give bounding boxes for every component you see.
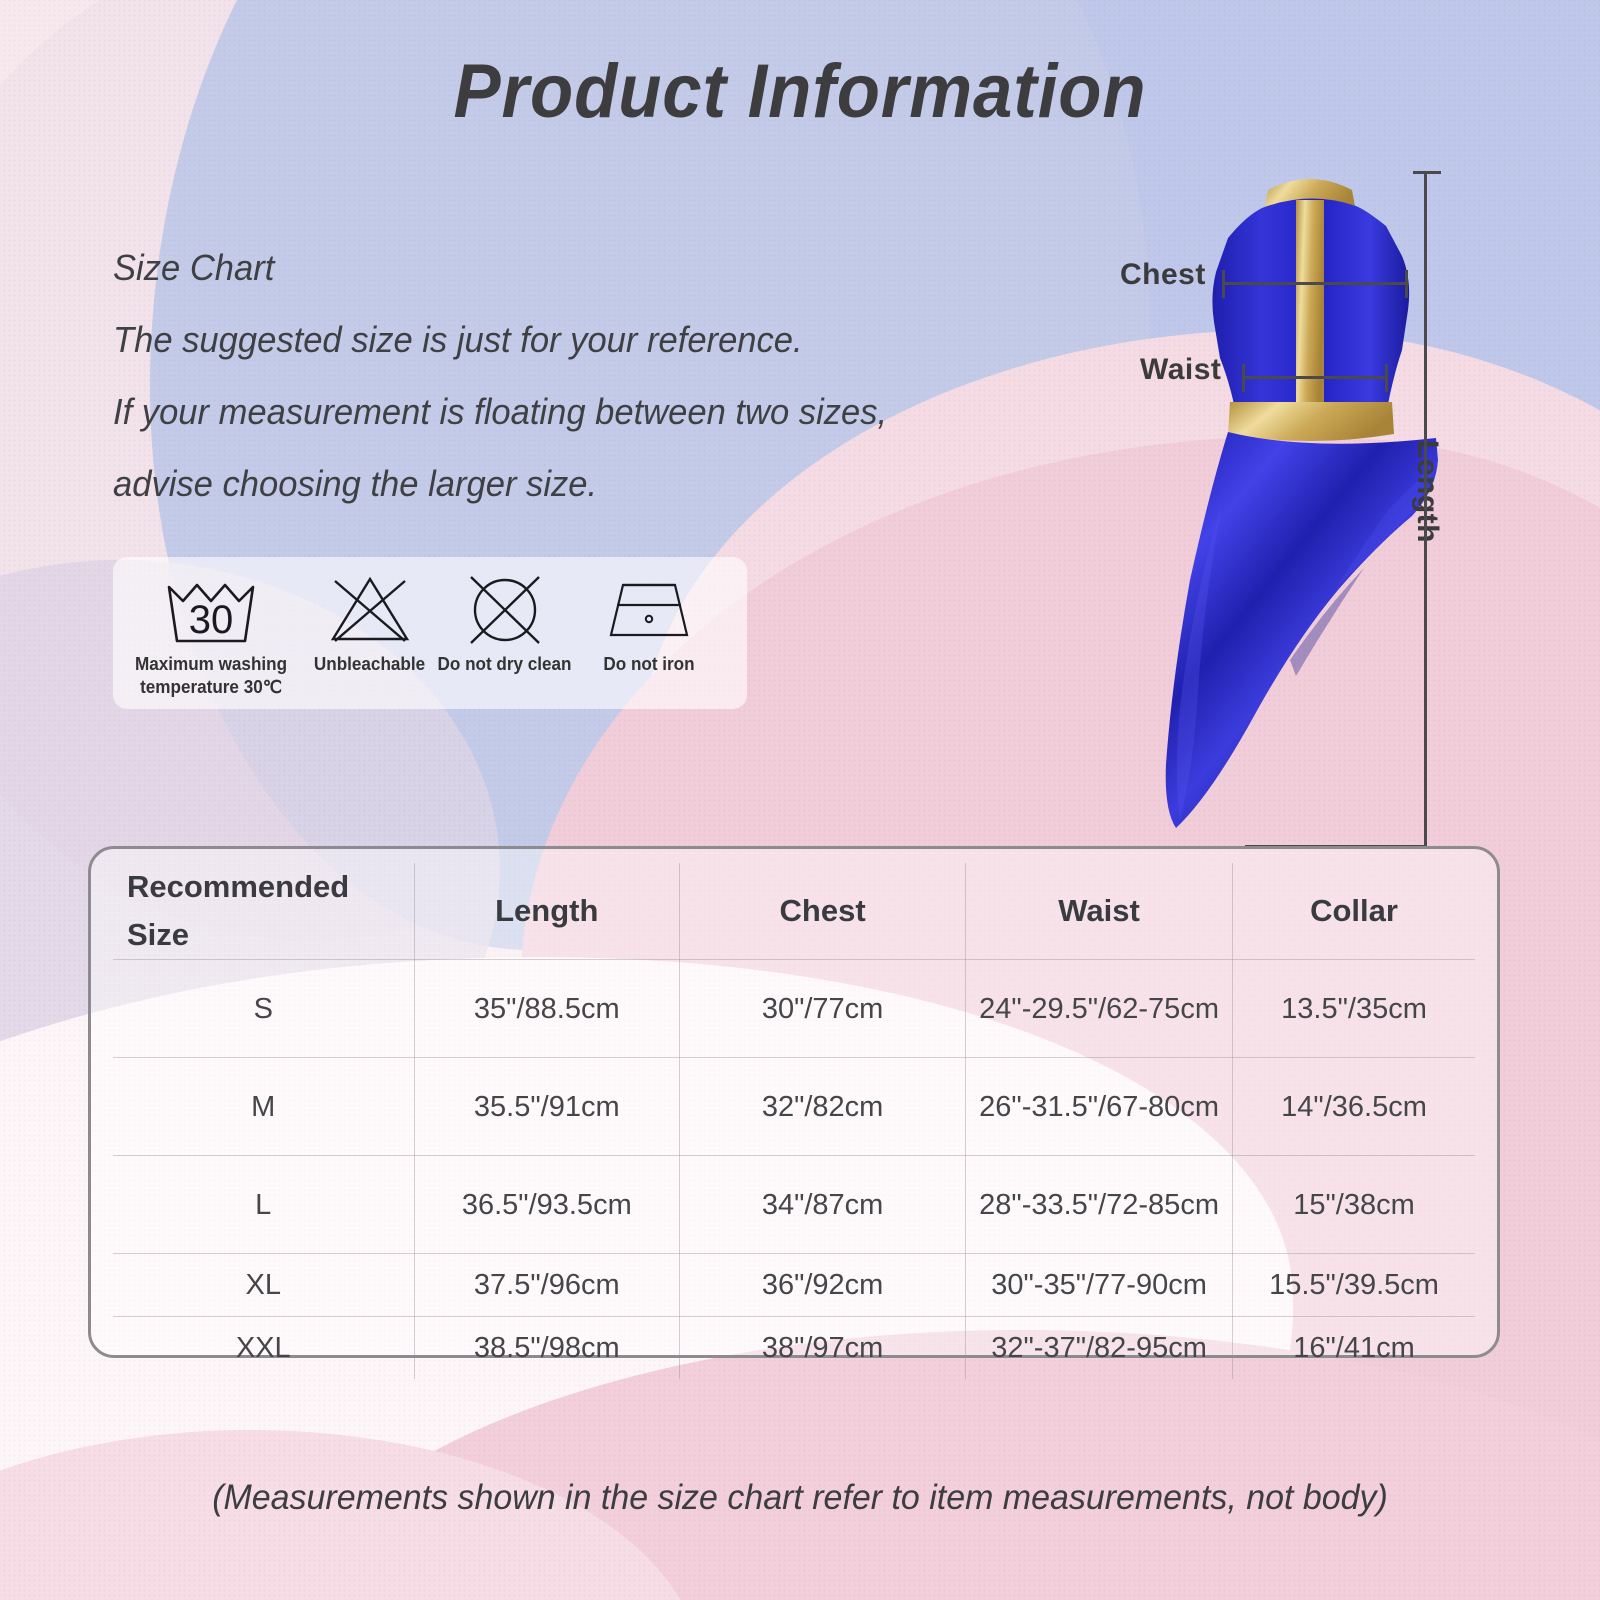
cell-length: 38.5"/98cm [414,1317,680,1380]
chest-measure-line [1222,282,1408,285]
size-chart-table-container: Recommended Size Length Chest Waist Coll… [88,846,1500,1358]
cell-collar: 13.5"/35cm [1233,960,1475,1058]
size-chart-line-3: advise choosing the larger size. [113,448,887,520]
waist-measure-cap-right [1385,364,1388,392]
care-label-bleach: Unbleachable [314,653,425,676]
cell-size: XL [113,1254,414,1317]
page-title: Product Information [56,48,1544,135]
chest-measure-cap-right [1405,270,1408,298]
wash-temperature-value: 30 [189,598,234,642]
care-label-dry-clean: Do not dry clean [438,653,572,676]
waist-measure-line [1242,376,1388,379]
cell-chest: 38"/97cm [680,1317,966,1380]
cell-length: 35"/88.5cm [414,960,680,1058]
column-header-chest: Chest [680,863,966,960]
table-row: M 35.5"/91cm 32"/82cm 26"-31.5"/67-80cm … [113,1058,1475,1156]
cell-chest: 34"/87cm [680,1156,966,1254]
size-chart-line-1: The suggested size is just for your refe… [113,304,887,376]
chest-measure-cap-left [1222,270,1225,298]
cell-chest: 30"/77cm [680,960,966,1058]
size-chart-heading: Size Chart [113,232,887,304]
size-chart-table: Recommended Size Length Chest Waist Coll… [113,863,1475,1379]
care-instructions-panel: 30 Maximum washing temperature 30℃ Unble… [113,557,747,709]
table-row: XXL 38.5"/98cm 38"/97cm 32"-37"/82-95cm … [113,1317,1475,1380]
cell-collar: 14"/36.5cm [1233,1058,1475,1156]
cell-size: XXL [113,1317,414,1380]
chest-measure-label: Chest [1120,258,1206,292]
length-measure-label: Length [1410,440,1444,543]
cell-chest: 36"/92cm [680,1254,966,1317]
cell-collar: 15.5"/39.5cm [1233,1254,1475,1317]
cell-length: 36.5"/93.5cm [414,1156,680,1254]
table-row: XL 37.5"/96cm 36"/92cm 30"-35"/77-90cm 1… [113,1254,1475,1317]
column-header-collar: Collar [1233,863,1475,960]
care-item-dry-clean: Do not dry clean [431,571,579,676]
measurements-disclaimer: (Measurements shown in the size chart re… [24,1478,1576,1518]
table-header-row: Recommended Size Length Chest Waist Coll… [113,863,1475,960]
cell-waist: 30"-35"/77-90cm [966,1254,1233,1317]
waist-measure-label: Waist [1140,353,1221,387]
care-item-bleach: Unbleachable [309,571,431,676]
cell-size: L [113,1156,414,1254]
wash-30-icon: 30 [159,571,263,649]
size-chart-line-2: If your measurement is floating between … [113,376,887,448]
product-information-page: Product Information Size Chart The sugge… [0,0,1600,1600]
column-header-length: Length [414,863,680,960]
cell-collar: 16"/41cm [1233,1317,1475,1380]
table-row: S 35"/88.5cm 30"/77cm 24"-29.5"/62-75cm … [113,960,1475,1058]
cell-length: 37.5"/96cm [414,1254,680,1317]
cell-collar: 15"/38cm [1233,1156,1475,1254]
care-label-iron: Do not iron [603,653,694,676]
cell-size: S [113,960,414,1058]
length-measure-tick-top [1413,171,1441,174]
column-header-size: Recommended Size [113,863,414,960]
cell-waist: 28"-33.5"/72-85cm [966,1156,1233,1254]
size-chart-intro: Size Chart The suggested size is just fo… [113,232,919,520]
no-bleach-icon [325,571,415,649]
cell-waist: 24"-29.5"/62-75cm [966,960,1233,1058]
cell-length: 35.5"/91cm [414,1058,680,1156]
care-label-washing: Maximum washing temperature 30℃ [135,653,287,699]
care-item-washing: 30 Maximum washing temperature 30℃ [113,571,309,699]
length-measure-line [1424,171,1427,847]
table-row: L 36.5"/93.5cm 34"/87cm 28"-33.5"/72-85c… [113,1156,1475,1254]
no-iron-icon [603,571,695,649]
no-dry-clean-icon [463,571,547,649]
cell-waist: 32"-37"/82-95cm [966,1317,1233,1380]
column-header-waist: Waist [966,863,1233,960]
care-item-iron: Do not iron [579,571,719,676]
waist-measure-cap-left [1242,364,1245,392]
cell-size: M [113,1058,414,1156]
cell-waist: 26"-31.5"/67-80cm [966,1058,1233,1156]
cell-chest: 32"/82cm [680,1058,966,1156]
